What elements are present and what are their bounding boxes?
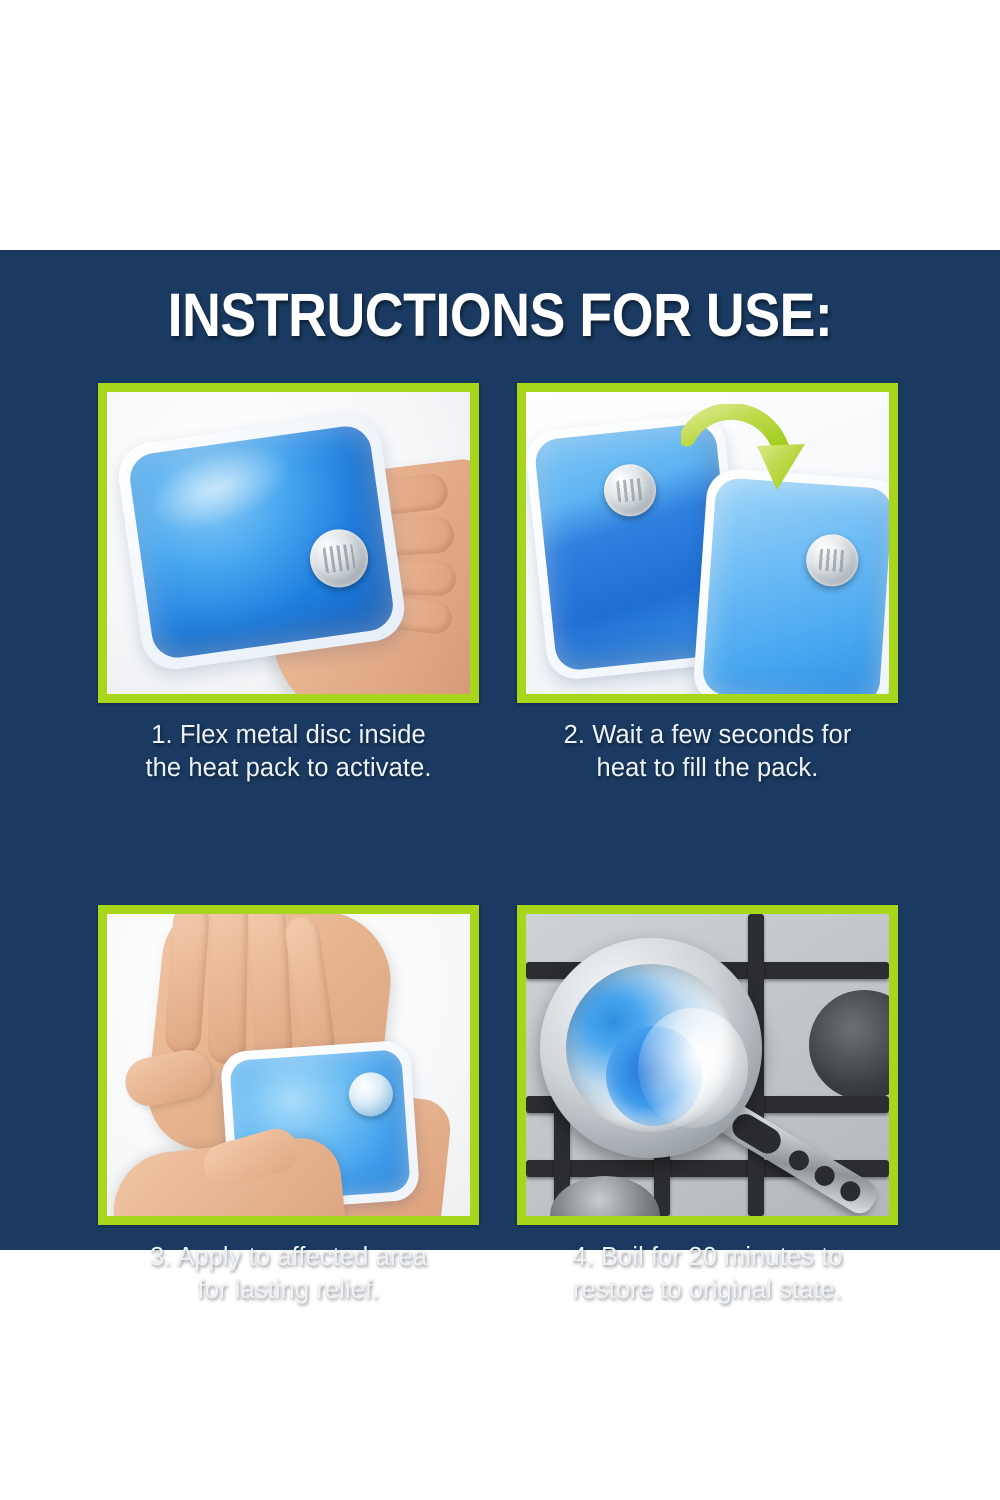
handle-detail (837, 1178, 864, 1205)
step-4-caption: 4. Boil for 20 minutes to restore to ori… (517, 1241, 898, 1307)
water-foam (638, 1008, 748, 1128)
page-title: INSTRUCTIONS FOR USE: (60, 280, 940, 350)
step-2-caption: 2. Wait a few seconds for heat to fill t… (517, 719, 898, 785)
step-3-caption: 3. Apply to affected area for lasting re… (98, 1241, 479, 1307)
instructions-page: INSTRUCTIONS FOR USE: (0, 0, 1000, 1500)
step-2-image-frame (517, 383, 898, 703)
caption-line: heat to fill the pack. (517, 752, 898, 785)
instructions-card: INSTRUCTIONS FOR USE: (0, 250, 1000, 1250)
step-1-image-frame (98, 383, 479, 703)
handle-detail (811, 1162, 838, 1189)
finger-icon (208, 914, 249, 1064)
boiling-water (566, 964, 736, 1132)
caption-line: for lasting relief. (98, 1274, 479, 1307)
caption-line: restore to original state. (517, 1274, 898, 1307)
caption-line: 1. Flex metal disc inside (98, 719, 479, 752)
steps-row-2: 3. Apply to affected area for lasting re… (98, 905, 898, 1307)
step-4-image-frame (517, 905, 898, 1225)
step-4: 4. Boil for 20 minutes to restore to ori… (517, 905, 898, 1307)
heat-pack-on-wrist-photo (107, 914, 470, 1216)
handle-detail (785, 1147, 812, 1174)
hand-holding-heat-pack-photo (107, 392, 470, 694)
saucepan-icon (540, 938, 762, 1158)
step-3: 3. Apply to affected area for lasting re… (98, 905, 479, 1307)
caption-line: 4. Boil for 20 minutes to (517, 1241, 898, 1274)
caption-line: 2. Wait a few seconds for (517, 719, 898, 752)
step-1: 1. Flex metal disc inside the heat pack … (98, 383, 479, 785)
step-1-caption: 1. Flex metal disc inside the heat pack … (98, 719, 479, 785)
step-2: 2. Wait a few seconds for heat to fill t… (517, 383, 898, 785)
boiling-pan-photo (526, 914, 889, 1216)
caption-line: 3. Apply to affected area (98, 1241, 479, 1274)
steps-row-1: 1. Flex metal disc inside the heat pack … (98, 383, 898, 785)
steps-grid: 1. Flex metal disc inside the heat pack … (98, 383, 898, 1308)
two-heat-packs-photo (526, 392, 889, 694)
caption-line: the heat pack to activate. (98, 752, 479, 785)
heat-pack-icon (114, 411, 408, 674)
step-3-image-frame (98, 905, 479, 1225)
curved-arrow-icon (681, 404, 811, 514)
